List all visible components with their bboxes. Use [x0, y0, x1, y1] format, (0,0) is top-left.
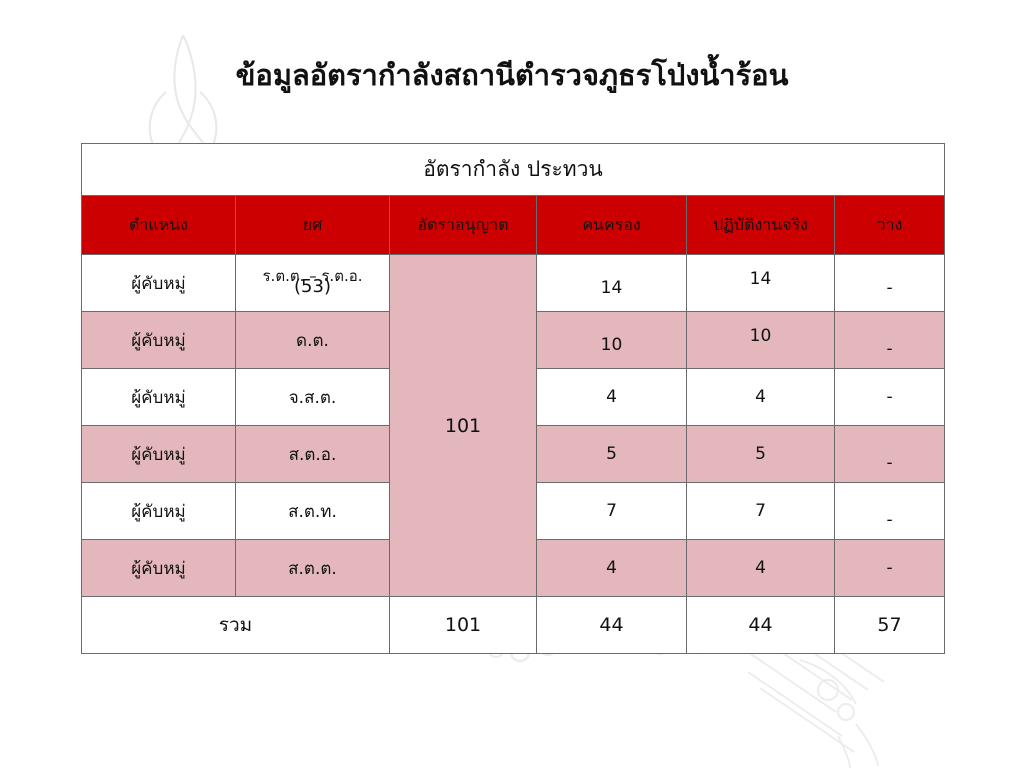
cell-occupied-value: 14	[601, 278, 623, 298]
cell-rank: ด.ต.	[236, 312, 390, 369]
cell-vacant-value: -	[886, 453, 892, 473]
cell-occupied-value: 10	[601, 335, 623, 355]
cell-occupied: 5	[537, 426, 687, 483]
cell-position: ผู้คับหมู่	[82, 312, 236, 369]
totals-actual: 44	[687, 597, 835, 654]
cell-rank: ร.ต.ต. – ร.ต.อ. (53)	[236, 255, 390, 312]
cell-occupied: 4	[537, 369, 687, 426]
cell-position: ผู้คับหมู่	[82, 483, 236, 540]
cell-rank: ส.ต.ท.	[236, 483, 390, 540]
cell-rank-sub: (53)	[236, 278, 389, 297]
totals-allowed: 101	[390, 597, 537, 654]
cell-position: ผู้คับหมู่	[82, 369, 236, 426]
cell-position: ผู้คับหมู่	[82, 426, 236, 483]
cell-rank: ส.ต.ต.	[236, 540, 390, 597]
totals-vacant: 57	[835, 597, 945, 654]
cell-actual-value: 4	[755, 387, 766, 407]
cell-occupied: 10	[537, 312, 687, 369]
staffing-table: อัตรากำลัง ประทวน ตำแหน่ง ยศ อัตราอนุญาต…	[81, 143, 945, 654]
cell-actual: 5	[687, 426, 835, 483]
cell-actual-value: 14	[750, 269, 772, 289]
column-header-vacant: ว่าง	[835, 196, 945, 255]
cell-rank: ส.ต.อ.	[236, 426, 390, 483]
cell-actual: 10	[687, 312, 835, 369]
cell-actual-value: 4	[755, 558, 766, 578]
page-title: ข้อมูลอัตรากำลังสถานีตำรวจภูธรโป่งน้ำร้อ…	[0, 52, 1024, 98]
column-header-allowed: อัตราอนุญาต	[390, 196, 537, 255]
column-header-rank: ยศ	[236, 196, 390, 255]
cell-occupied: 7	[537, 483, 687, 540]
cell-occupied-value: 4	[606, 558, 617, 578]
cell-vacant-value: -	[886, 387, 892, 407]
cell-vacant: -	[835, 369, 945, 426]
column-header-occupied: คนครอง	[537, 196, 687, 255]
cell-actual-value: 10	[750, 326, 772, 346]
cell-vacant: -	[835, 426, 945, 483]
totals-label: รวม	[82, 597, 390, 654]
cell-occupied: 4	[537, 540, 687, 597]
totals-occupied: 44	[537, 597, 687, 654]
cell-occupied-value: 7	[606, 501, 617, 521]
cell-actual-value: 7	[755, 501, 766, 521]
table-totals-row: รวม 101 44 44 57	[82, 597, 945, 654]
cell-vacant-value: -	[886, 278, 892, 298]
cell-occupied-value: 4	[606, 387, 617, 407]
table-row: ผู้คับหมู่ ร.ต.ต. – ร.ต.อ. (53) 101 14 1…	[82, 255, 945, 312]
column-header-actual: ปฏิบัติงานจริง	[687, 196, 835, 255]
cell-position: ผู้คับหมู่	[82, 540, 236, 597]
cell-position: ผู้คับหมู่	[82, 255, 236, 312]
cell-actual-value: 5	[755, 444, 766, 464]
cell-occupied-value: 5	[606, 444, 617, 464]
table-banner-title: อัตรากำลัง ประทวน	[82, 144, 945, 196]
cell-occupied: 14	[537, 255, 687, 312]
table-header-row: ตำแหน่ง ยศ อัตราอนุญาต คนครอง ปฏิบัติงาน…	[82, 196, 945, 255]
cell-vacant: -	[835, 483, 945, 540]
cell-actual: 14	[687, 255, 835, 312]
cell-actual: 4	[687, 369, 835, 426]
table-banner-row: อัตรากำลัง ประทวน	[82, 144, 945, 196]
cell-vacant-value: -	[886, 339, 892, 359]
cell-actual: 4	[687, 540, 835, 597]
column-header-position: ตำแหน่ง	[82, 196, 236, 255]
cell-vacant: -	[835, 540, 945, 597]
cell-vacant: -	[835, 255, 945, 312]
cell-allowed-merged: 101	[390, 255, 537, 597]
cell-actual: 7	[687, 483, 835, 540]
cell-vacant-value: -	[886, 558, 892, 578]
cell-vacant: -	[835, 312, 945, 369]
cell-vacant-value: -	[886, 510, 892, 530]
cell-rank: จ.ส.ต.	[236, 369, 390, 426]
